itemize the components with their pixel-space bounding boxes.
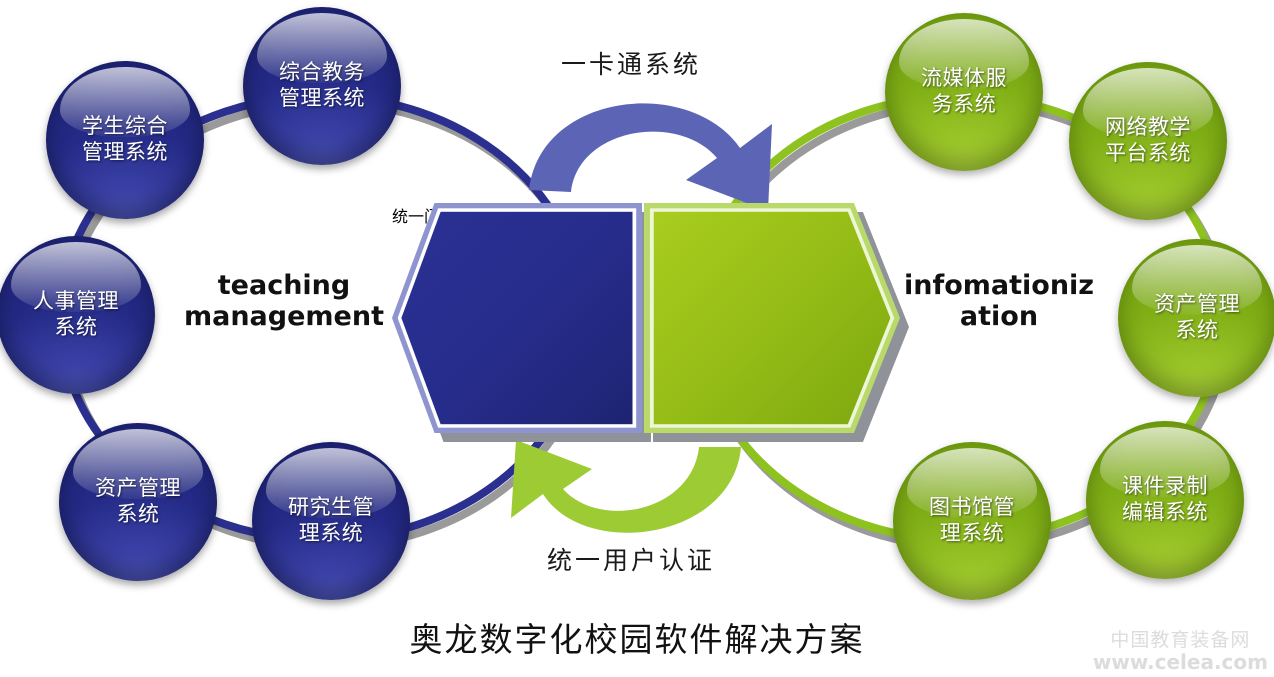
right-node-3[interactable]: 资产管理系统 [1118,239,1274,397]
arrow-bottom-green [511,440,741,533]
label-line1: 课件录制 [1122,474,1208,498]
right-caption: infomationiz ation [890,270,1108,333]
unified-database-hexagon[interactable]: 统一数据库 [644,203,900,433]
label-line2: 务系统 [932,92,997,116]
label-line2: 理系统 [299,521,364,545]
label-line1: 网络教学 [1105,115,1191,139]
label-line2: 管理系统 [279,86,365,110]
watermark-cn: 中国教育装备网 [1093,630,1268,651]
label-line1: 资产管理 [95,476,181,500]
bottom-arrow-label: 统一用户认证 [547,541,715,577]
left-node-5-label: 研究生管理系统 [282,495,380,546]
right-node-4-label: 课件录制编辑系统 [1116,474,1214,525]
right-node-3-label: 资产管理系统 [1148,292,1246,343]
watermark-url: www.celea.com [1093,651,1268,673]
label-line2: 系统 [117,502,160,526]
left-caption: teaching management [176,270,392,333]
label-line1: 研究生管 [288,495,374,519]
left-node-5[interactable]: 研究生管理系统 [252,442,410,600]
top-arrow-label: 一卡通系统 [561,45,701,81]
left-node-3[interactable]: 人事管理系统 [0,236,155,394]
right-node-1[interactable]: 流媒体服务系统 [885,13,1043,171]
right-node-2-label: 网络教学平台系统 [1099,115,1197,166]
right-caption-line1: infomationiz [890,270,1108,301]
left-node-2-label: 综合教务管理系统 [273,60,371,111]
left-node-3-label: 人事管理系统 [27,289,125,340]
arrow-top-blue [529,103,772,211]
hex-body [654,212,891,425]
label-line1: 人事管理 [33,289,119,313]
watermark: 中国教育装备网 www.celea.com [1093,630,1268,673]
left-caption-line1: teaching [176,270,392,301]
left-node-2[interactable]: 综合教务管理系统 [243,7,401,165]
right-node-2[interactable]: 网络教学平台系统 [1069,62,1227,220]
label-line2: 编辑系统 [1122,500,1208,524]
left-node-1-label: 学生综合管理系统 [76,114,174,165]
left-node-4[interactable]: 资产管理系统 [59,423,217,581]
label-line1: 图书馆管 [929,495,1015,519]
right-node-5-label: 图书馆管理系统 [923,495,1021,546]
left-caption-line2: management [176,301,392,332]
right-caption-line2: ation [890,301,1108,332]
right-node-1-label: 流媒体服务系统 [915,66,1013,117]
label-line2: 系统 [1176,318,1219,342]
label-line1: 学生综合 [82,114,168,138]
label-line2: 管理系统 [82,140,168,164]
label-line2: 理系统 [940,521,1005,545]
page-title: 奥龙数字化校园软件解决方案 [0,613,1274,661]
label-line1: 流媒体服 [921,66,1007,90]
unified-portal-hexagon[interactable]: 统一门户 [392,203,642,433]
left-node-4-label: 资产管理系统 [89,476,187,527]
label-line1: 资产管理 [1154,292,1240,316]
diagram-canvas: teaching management infomationiz ation 统… [0,0,1274,677]
label-line2: 系统 [55,315,98,339]
label-line2: 平台系统 [1105,141,1191,165]
label-line1: 综合教务 [279,60,365,84]
right-node-4[interactable]: 课件录制编辑系统 [1086,421,1244,579]
left-node-1[interactable]: 学生综合管理系统 [46,61,204,219]
hex-body [401,212,632,425]
right-node-5[interactable]: 图书馆管理系统 [893,442,1051,600]
